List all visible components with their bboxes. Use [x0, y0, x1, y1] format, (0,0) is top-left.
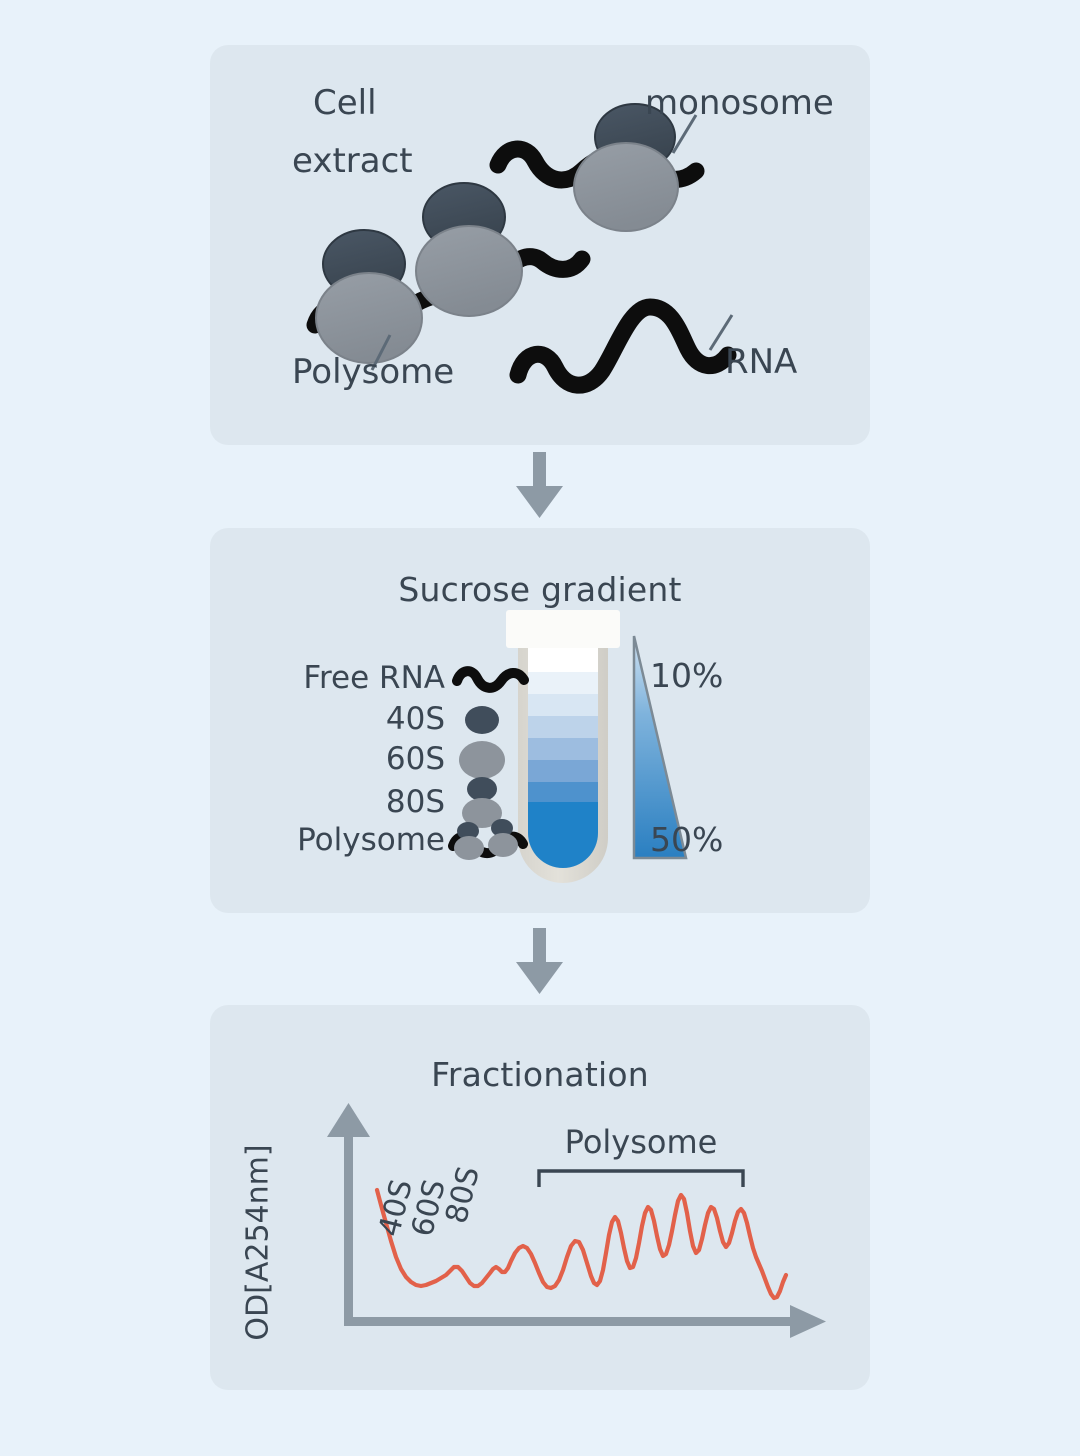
y-axis [327, 1103, 370, 1325]
label-cell: Cell [313, 83, 377, 123]
legend-icon-free-rna [457, 671, 524, 688]
legend-icon-40s [465, 706, 499, 734]
panel-fractionation: Fractionation 40S 60S 80S Polysome [210, 1005, 870, 1390]
arrow-stem [533, 452, 546, 490]
ribosome-polysome-right [416, 183, 522, 316]
legend-label-40s: 40S [210, 701, 445, 737]
fractionation-chart [210, 1005, 870, 1390]
y-axis-arrowhead-icon [327, 1103, 370, 1137]
free-rna-strand [518, 307, 728, 385]
y-axis-label: OD[A254nm] [241, 1133, 276, 1353]
arrow-stem [533, 928, 546, 966]
gradient-bottom-percent-label: 50% [650, 820, 723, 859]
panel-cell-extract: Cell extract monosome Polysome RNA [210, 45, 870, 445]
legend-icon-60s [459, 741, 505, 779]
arrow-connector-2 [0, 928, 1080, 998]
arrow-connector-1 [0, 452, 1080, 522]
bracket-label-polysome: Polysome [539, 1123, 743, 1161]
legend-label-free-rna: Free RNA [210, 660, 445, 696]
label-extract: extract [292, 141, 413, 181]
legend-label-60s: 60S [210, 741, 445, 777]
polysome-profiling-figure: Cell extract monosome Polysome RNA Sucro… [0, 0, 1080, 1456]
legend-icon-80s [462, 777, 502, 828]
tube-cap [506, 610, 620, 648]
sucrose-liquid [528, 648, 598, 872]
ribosome-polysome-left [316, 230, 422, 363]
polysome-bracket [539, 1171, 743, 1187]
arrow-head-icon [516, 486, 563, 518]
x-axis-arrowhead-icon [790, 1305, 826, 1338]
label-rna: RNA [725, 342, 797, 382]
x-axis [344, 1305, 826, 1338]
panel-sucrose-gradient: Sucrose gradient [210, 528, 870, 913]
legend-label-polysome: Polysome [210, 822, 445, 858]
label-monosome: monosome [645, 83, 834, 123]
gradient-top-percent-label: 10% [650, 656, 723, 695]
legend-label-80s: 80S [210, 784, 445, 820]
label-polysome: Polysome [292, 352, 454, 392]
ribosome-monosome [574, 104, 678, 231]
arrow-head-icon [516, 962, 563, 994]
